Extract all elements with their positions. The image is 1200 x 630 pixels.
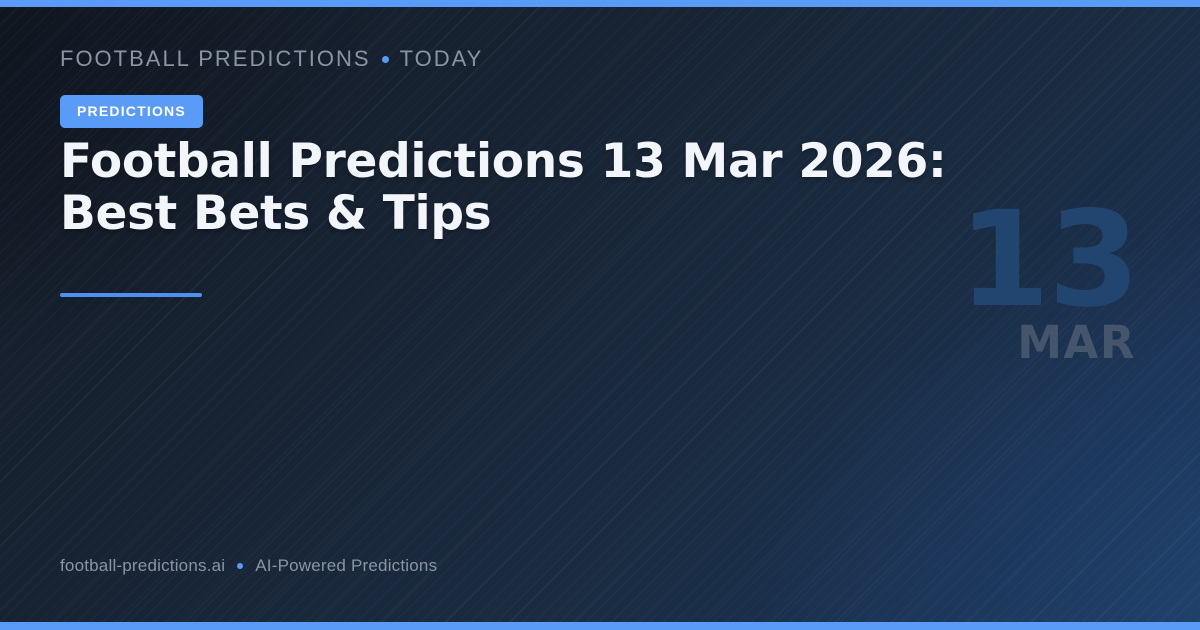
eyebrow-secondary-label: TODAY	[400, 46, 484, 72]
bullet-dot-icon	[382, 56, 389, 63]
footer: football-predictions.ai AI-Powered Predi…	[60, 556, 437, 576]
content-area: FOOTBALL PREDICTIONS TODAY PREDICTIONS F…	[60, 0, 1140, 630]
eyebrow-primary-label: FOOTBALL PREDICTIONS	[60, 46, 371, 72]
footer-site-label: football-predictions.ai	[60, 556, 225, 576]
share-card: 13 MAR FOOTBALL PREDICTIONS TODAY PREDIC…	[0, 0, 1200, 630]
title-accent-rule	[60, 293, 202, 297]
page-title: Football Predictions 13 Mar 2026: Best B…	[60, 136, 1060, 240]
status-badge: PREDICTIONS	[60, 95, 203, 128]
footer-tagline-label: AI-Powered Predictions	[255, 556, 437, 576]
eyebrow: FOOTBALL PREDICTIONS TODAY	[60, 46, 483, 72]
bullet-dot-icon	[237, 563, 243, 569]
